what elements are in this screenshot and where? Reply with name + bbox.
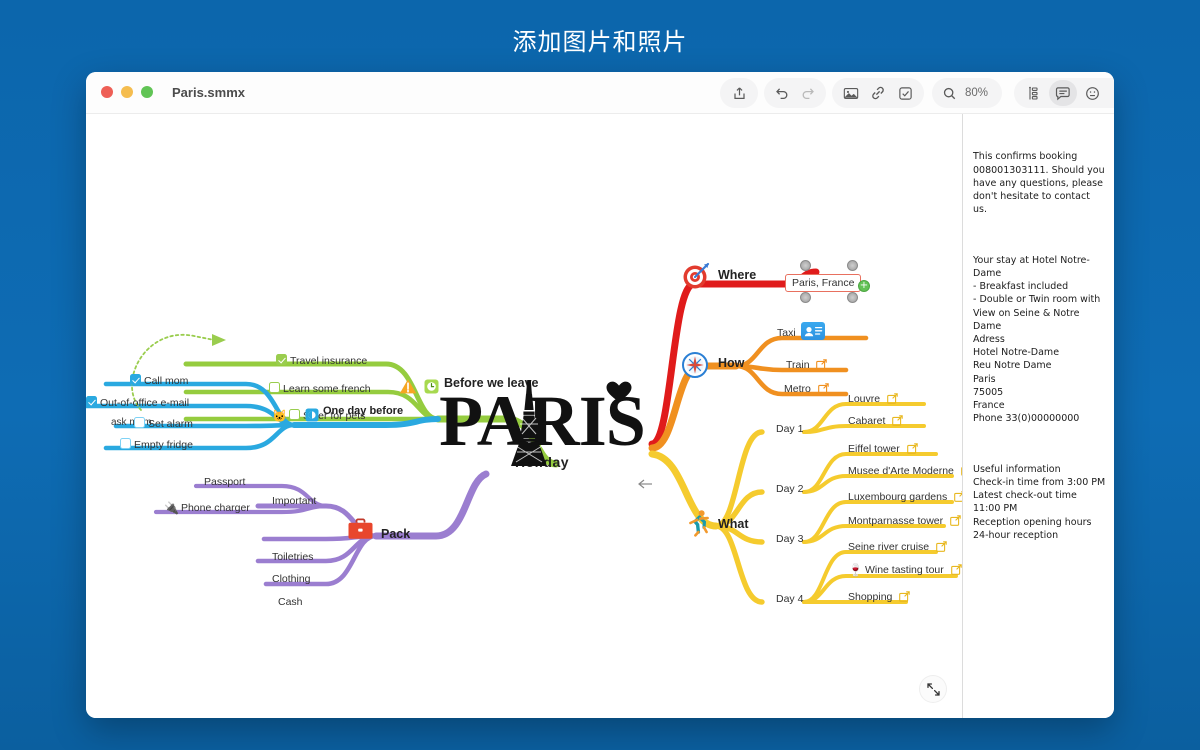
- center-topic-image[interactable]: PARIS: [422, 382, 662, 470]
- notes-panel[interactable]: This confirms booking 008001303111. Shou…: [962, 114, 1114, 718]
- node-important[interactable]: Important: [272, 495, 316, 508]
- toolbar-group-insert: [832, 78, 924, 108]
- node-call-mom[interactable]: Call mom: [130, 374, 188, 388]
- node-montparnasse-tower[interactable]: Montparnasse tower: [848, 515, 961, 528]
- wine-glass-icon: 🍷: [848, 563, 863, 577]
- checkbox-unchecked-icon[interactable]: [120, 438, 131, 449]
- node-toiletries[interactable]: Toiletries: [272, 551, 313, 564]
- node-label: Cabaret: [848, 415, 885, 427]
- node-label: Paris, France: [792, 277, 854, 289]
- external-link-icon[interactable]: [936, 541, 947, 552]
- expand-icon[interactable]: [920, 676, 946, 702]
- node-label: Cash: [278, 596, 303, 608]
- node-eiffel-tower[interactable]: Eiffel tower: [848, 443, 918, 456]
- node-label: Seine river cruise: [848, 541, 929, 553]
- node-day-2[interactable]: Day 2: [776, 483, 803, 496]
- contrast-icon: [305, 408, 319, 422]
- node-travel-insurance[interactable]: Travel insurance: [276, 354, 367, 368]
- resize-handle-top-left[interactable]: [800, 260, 811, 271]
- node-label: Luxembourg gardens: [848, 491, 947, 503]
- emoji-icon[interactable]: [1079, 80, 1106, 106]
- link-icon[interactable]: [865, 80, 890, 106]
- target-icon: [682, 262, 710, 290]
- node-luxembourg-gardens[interactable]: Luxembourg gardens: [848, 491, 962, 504]
- node-label: Metro: [784, 383, 811, 395]
- heart-icon: [605, 380, 633, 404]
- traffic-lights: [101, 86, 153, 98]
- node-label: Set alarm: [148, 418, 193, 430]
- node-wine-tasting-tour[interactable]: 🍷Wine tasting tour: [848, 564, 962, 577]
- node-label: Taxi: [777, 327, 796, 339]
- node-label: Phone charger: [181, 502, 250, 514]
- node-day-4[interactable]: Day 4: [776, 593, 803, 606]
- close-button[interactable]: [101, 86, 113, 98]
- toolbar-group-inspectors: [1014, 78, 1114, 108]
- page-root: 添加图片和照片 Paris.smmx: [0, 0, 1200, 750]
- search-icon[interactable]: [938, 80, 961, 106]
- node-phone-charger[interactable]: 🔌Phone charger: [164, 502, 250, 515]
- resize-handle-bottom-left[interactable]: [800, 292, 811, 303]
- checkbox-unchecked-icon[interactable]: [134, 417, 145, 428]
- node-label: Important: [272, 495, 316, 507]
- checkbox-unchecked-icon[interactable]: [289, 409, 300, 420]
- node-seine-river-cruise[interactable]: Seine river cruise: [848, 541, 947, 554]
- node-label: Day 1: [776, 423, 803, 435]
- warning-icon: [399, 378, 417, 395]
- node-set-alarm[interactable]: Set alarm: [134, 417, 193, 431]
- external-link-icon[interactable]: [892, 415, 903, 426]
- briefcase-icon: [347, 518, 374, 542]
- node-where[interactable]: Where: [718, 269, 756, 282]
- resize-handle-top-right[interactable]: [847, 260, 858, 271]
- zoom-button[interactable]: [141, 86, 153, 98]
- node-out-of-office-email[interactable]: Out-of-office e-mail: [86, 396, 189, 410]
- node-label: Call mom: [144, 375, 188, 387]
- node-what[interactable]: What: [718, 518, 749, 531]
- node-label: Clothing: [272, 573, 311, 585]
- node-label: Louvre: [848, 393, 880, 405]
- node-paris-france-selected[interactable]: Paris, France: [785, 274, 861, 292]
- external-link-icon[interactable]: [951, 564, 962, 575]
- toolbar-group-history: [764, 78, 826, 108]
- mindmap-canvas[interactable]: Travel insurance Learn some french 🐱Sitt…: [86, 114, 962, 718]
- node-louvre[interactable]: Louvre: [848, 393, 898, 406]
- node-label: One day before: [323, 405, 403, 417]
- external-link-icon[interactable]: [816, 359, 827, 370]
- node-label: Passport: [204, 476, 245, 488]
- node-label: Pack: [381, 527, 410, 541]
- checkbox-checked-icon[interactable]: [130, 374, 141, 385]
- node-train[interactable]: Train: [786, 359, 827, 372]
- node-label: Where: [718, 268, 756, 282]
- external-link-icon[interactable]: [950, 515, 961, 526]
- node-label: What: [718, 517, 749, 531]
- node-label: Day 3: [776, 533, 803, 545]
- checkbox-unchecked-icon[interactable]: [269, 382, 280, 393]
- notes-paragraph-3: Useful information Check-in time from 3:…: [973, 463, 1106, 542]
- redo-icon[interactable]: [796, 80, 820, 106]
- outline-icon[interactable]: [1020, 80, 1047, 106]
- node-label: Toiletries: [272, 551, 313, 563]
- node-cabaret[interactable]: Cabaret: [848, 415, 903, 428]
- document-title: Paris.smmx: [172, 85, 245, 100]
- palette-icon[interactable]: [1108, 80, 1114, 106]
- node-label: Out-of-office e-mail: [100, 397, 189, 409]
- notes-icon[interactable]: [1049, 80, 1076, 106]
- eiffel-tower-icon: [501, 378, 557, 468]
- node-label: Wine tasting tour: [865, 564, 944, 576]
- relationship-arrowhead: [212, 334, 226, 346]
- zoom-level-label[interactable]: 80%: [963, 87, 996, 99]
- node-cash[interactable]: Cash: [278, 596, 303, 609]
- node-label: Travel insurance: [290, 355, 367, 367]
- node-label: Day 2: [776, 483, 803, 495]
- notes-paragraph-2: Your stay at Hotel Notre-Dame - Breakfas…: [973, 254, 1106, 426]
- undo-icon[interactable]: [770, 80, 794, 106]
- runner-icon: [684, 509, 712, 537]
- node-metro[interactable]: Metro: [784, 383, 829, 396]
- node-label: Day 4: [776, 593, 803, 605]
- external-link-icon[interactable]: [899, 591, 910, 602]
- contact-card-icon[interactable]: [801, 322, 825, 340]
- window-titlebar: Paris.smmx: [86, 72, 1114, 114]
- toolbar-group-share: [720, 78, 758, 108]
- checkbox-icon[interactable]: [893, 80, 918, 106]
- node-passport[interactable]: Passport: [204, 476, 245, 489]
- node-how[interactable]: How: [718, 357, 744, 370]
- node-pack[interactable]: Pack: [381, 528, 410, 541]
- external-link-icon[interactable]: [818, 383, 829, 394]
- node-learn-some-french[interactable]: Learn some french: [269, 382, 371, 396]
- plug-icon: 🔌: [164, 501, 179, 515]
- resize-handle-bottom-right[interactable]: [847, 292, 858, 303]
- node-taxi[interactable]: Taxi: [777, 327, 796, 340]
- node-empty-fridge[interactable]: Empty fridge: [120, 438, 193, 452]
- image-icon[interactable]: [838, 80, 863, 106]
- external-link-icon[interactable]: [954, 491, 962, 502]
- toolbar-group-zoom: 80%: [932, 78, 1002, 108]
- checkbox-checked-icon[interactable]: [276, 354, 287, 365]
- share-icon[interactable]: [726, 80, 752, 106]
- compass-icon: [682, 352, 708, 378]
- node-shopping[interactable]: Shopping: [848, 591, 910, 604]
- node-label: Musee d'Arte Moderne: [848, 465, 954, 477]
- node-day-1[interactable]: Day 1: [776, 423, 803, 436]
- node-day-3[interactable]: Day 3: [776, 533, 803, 546]
- checkbox-checked-icon[interactable]: [86, 396, 97, 407]
- node-label: Eiffel tower: [848, 443, 900, 455]
- node-label: How: [718, 356, 744, 370]
- node-clothing[interactable]: Clothing: [272, 573, 311, 586]
- app-window: Paris.smmx: [86, 72, 1114, 718]
- node-label: Montparnasse tower: [848, 515, 943, 527]
- node-label: Empty fridge: [134, 439, 193, 451]
- add-child-button[interactable]: +: [858, 280, 870, 292]
- node-label: Train: [786, 359, 810, 371]
- node-label: Shopping: [848, 591, 892, 603]
- node-musee-darte-moderne[interactable]: Musee d'Arte Moderne: [848, 465, 962, 478]
- cat-icon: 🐱: [272, 409, 287, 423]
- minimize-button[interactable]: [121, 86, 133, 98]
- external-link-icon[interactable]: [887, 393, 898, 404]
- external-link-icon[interactable]: [907, 443, 918, 454]
- node-one-day-before[interactable]: One day before: [323, 405, 377, 418]
- paris-wordmark: PARIS: [439, 382, 645, 460]
- node-label: Learn some french: [283, 383, 371, 395]
- notes-paragraph-1: This confirms booking 008001303111. Shou…: [973, 150, 1106, 216]
- page-title: 添加图片和照片: [0, 22, 1200, 57]
